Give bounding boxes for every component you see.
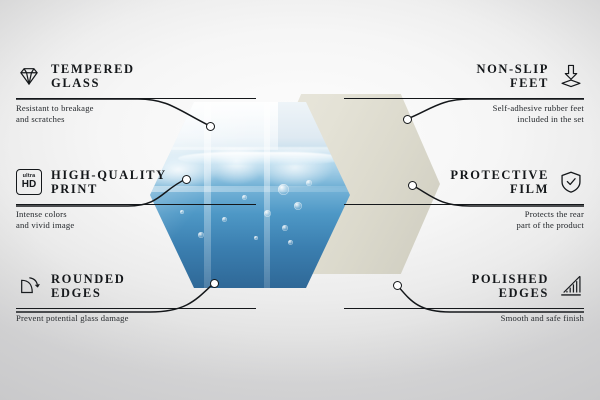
feature-tempered-glass: TEMPERED GLASS Resistant to breakage and…	[16, 56, 256, 125]
feature-subtitle: Resistant to breakage and scratches	[16, 103, 256, 125]
feature-polished-edges: POLISHED EDGES Smooth and safe finish	[344, 266, 584, 324]
feature-title-line1: PROTECTIVE	[450, 168, 549, 183]
divider	[16, 308, 256, 309]
feature-title-line2: FILM	[450, 182, 549, 197]
arrow-onto-pad-icon	[558, 63, 584, 89]
rounded-corner-icon	[16, 273, 42, 299]
feature-subtitle: Self-adhesive rubber feet included in th…	[344, 103, 584, 125]
badge-large-text: HD	[22, 180, 36, 190]
feature-title-line2: FEET	[476, 76, 549, 91]
feature-subtitle: Prevent potential glass damage	[16, 313, 256, 324]
feature-title-line1: HIGH-QUALITY	[51, 168, 167, 183]
divider	[16, 98, 256, 99]
feature-title-line2: EDGES	[51, 286, 125, 301]
feature-title-line2: GLASS	[51, 76, 135, 91]
feature-title: ROUNDED EDGES	[51, 272, 125, 301]
hatched-bevel-icon	[558, 273, 584, 299]
divider	[344, 204, 584, 205]
divider	[344, 98, 584, 99]
feature-subtitle: Intense colors and vivid image	[16, 209, 256, 231]
feature-title-line2: PRINT	[51, 182, 167, 197]
ultra-hd-badge-icon: ultra HD	[16, 169, 42, 195]
feature-title: HIGH-QUALITY PRINT	[51, 168, 167, 197]
feature-rounded-edges: ROUNDED EDGES Prevent potential glass da…	[16, 266, 256, 324]
feature-title-line1: TEMPERED	[51, 62, 135, 77]
feature-title-line1: NON-SLIP	[476, 62, 549, 77]
divider	[16, 204, 256, 205]
feature-title: NON-SLIP FEET	[476, 62, 549, 91]
shield-check-icon	[558, 169, 584, 195]
diamond-icon	[16, 63, 42, 89]
feature-protective-film: PROTECTIVE FILM Protects the rear part o…	[344, 162, 584, 231]
infographic-canvas: TEMPERED GLASS Resistant to breakage and…	[0, 0, 600, 400]
feature-subtitle: Protects the rear part of the product	[344, 209, 584, 231]
feature-high-quality-print: ultra HD HIGH-QUALITY PRINT Intense colo…	[16, 162, 256, 231]
feature-title-line2: EDGES	[472, 286, 549, 301]
feature-title: POLISHED EDGES	[472, 272, 549, 301]
divider	[344, 308, 584, 309]
feature-non-slip-feet: NON-SLIP FEET Self-adhesive rubber feet …	[344, 56, 584, 125]
feature-title-line1: ROUNDED	[51, 272, 125, 287]
feature-title: TEMPERED GLASS	[51, 62, 135, 91]
feature-title: PROTECTIVE FILM	[450, 168, 549, 197]
feature-subtitle: Smooth and safe finish	[344, 313, 584, 324]
feature-title-line1: POLISHED	[472, 272, 549, 287]
